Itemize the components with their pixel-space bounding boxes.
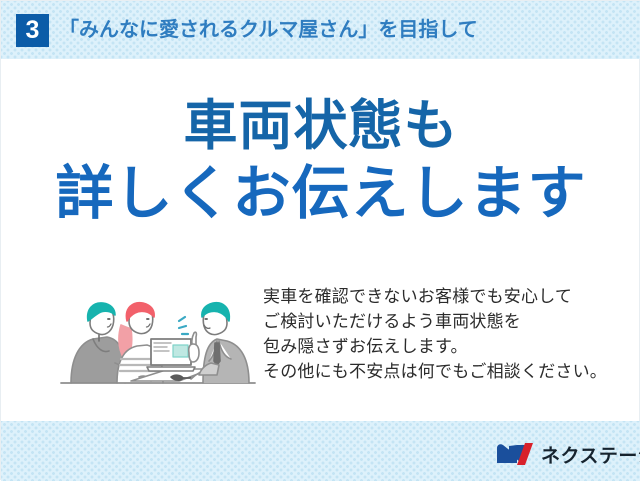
body-line-2: ご検討いただけるよう車両状態を: [263, 309, 613, 334]
headline-line-1: 車両状態も: [1, 93, 640, 159]
body-line-4: その他にも不安点は何でもご相談ください。: [263, 359, 613, 384]
body-copy: 実車を確認できないお客様でも安心して ご検討いただけるよう車両状態を 包み隠さず…: [263, 284, 613, 384]
body-line-1: 実車を確認できないお客様でも安心して: [263, 284, 613, 309]
promotional-banner: 3 「みんなに愛されるクルマ屋さん」を目指して 車両状態も 詳しくお伝えします: [0, 0, 640, 480]
body-line-3: 包み隠さずお伝えします。: [263, 334, 613, 359]
headline-block: 車両状態も 詳しくお伝えします: [1, 93, 640, 229]
step-number-badge: 3: [16, 14, 49, 47]
header-title: 「みんなに愛されるクルマ屋さん」を目指して: [59, 14, 478, 47]
consultation-illustration-svg: [59, 277, 257, 395]
nexstage-n-mark-icon: [495, 441, 535, 467]
headline-line-2: 詳しくお伝えします: [1, 159, 640, 229]
consultation-illustration: [59, 277, 257, 395]
brand-logo: ネクステージ: [495, 439, 640, 469]
brand-name: ネクステージ: [541, 441, 640, 468]
